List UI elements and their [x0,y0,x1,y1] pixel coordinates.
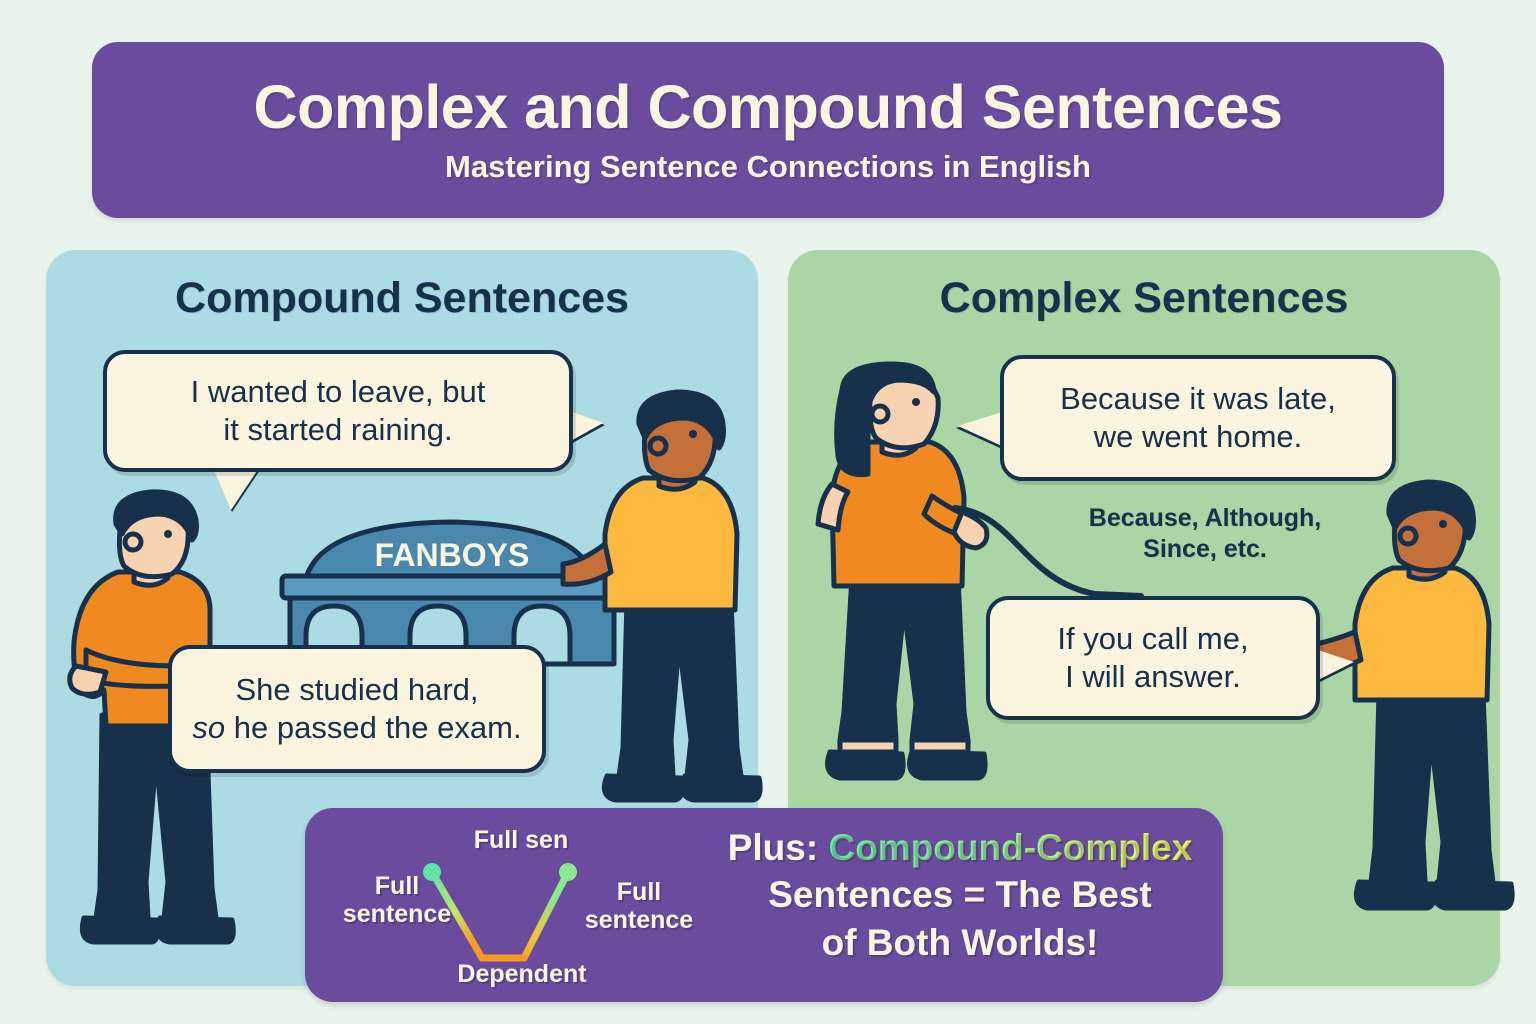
diagram-label-left: Full sentence [327,872,467,928]
diagram-label-right-line1: Full [617,878,661,906]
diagram-label-top: Full sen [441,826,601,854]
bubble-line: I wanted to leave, but [191,374,486,409]
bubble-tail-left [958,412,1002,446]
complex-panel-title: Complex Sentences [788,274,1500,323]
bridge-label: FANBOYS [375,537,530,573]
footer-highlight: Compound-Complex [828,827,1192,868]
conjunction-note-line: Since, etc. [1143,535,1267,563]
footer-line-3: of Both Worlds! [822,922,1099,963]
header-banner: Complex and Compound Sentences Mastering… [92,42,1444,218]
speech-bubble-complex-1: Because it was late, we went home. [1000,355,1396,481]
bubble-line-italic-conj: so he passed the exam. [192,709,521,747]
bubble-line: we went home. [1094,418,1303,456]
conjunction-note: Because, Although, Since, etc. [1040,503,1370,564]
footer-line-2: Sentences = The Best [768,874,1152,915]
bubble-line-rest: he passed the exam. [225,710,521,745]
speech-bubble-compound-1: I wanted to leave, but it started rainin… [103,350,573,472]
footer-plus-label: Plus: [728,827,818,868]
bubble-line: Because it was late, [1060,380,1336,418]
compound-panel-title: Compound Sentences [46,274,758,323]
page-subtitle: Mastering Sentence Connections in Englis… [445,149,1091,185]
diagram-label-left-line2: sentence [343,900,451,928]
footer-message: Plus: Compound-Complex Sentences = The B… [705,824,1215,966]
person-left-panel-right-illustration [585,392,765,812]
infographic-canvas: Complex and Compound Sentences Mastering… [0,0,1536,1024]
page-title: Complex and Compound Sentences [254,75,1283,139]
speech-bubble-compound-2: She studied hard, so he passed the exam. [168,645,546,773]
diagram-label-left-line1: Full [375,872,419,900]
bubble-line: If you call me, [1057,620,1248,658]
bubble-tail-bottom [213,468,259,510]
bubble-tail-right-2 [1318,650,1354,680]
conjunction-note-line: Because, Although, [1089,504,1321,532]
speech-bubble-complex-2: If you call me, I will answer. [986,596,1320,720]
compound-complex-diagram: Full sen Full sentence Full sentence Dep… [319,820,709,995]
bubble-line: She studied hard, [235,671,478,709]
diagram-label-right-line2: sentence [585,906,693,934]
footer-banner: Full sen Full sentence Full sentence Dep… [305,808,1223,1002]
italic-conjunction: so [192,710,225,745]
diagram-label-right: Full sentence [569,878,709,934]
bubble-line: I will answer. [1065,658,1241,696]
diagram-label-bottom: Dependent [437,960,607,988]
bubble-line: it started raining. [223,412,452,447]
